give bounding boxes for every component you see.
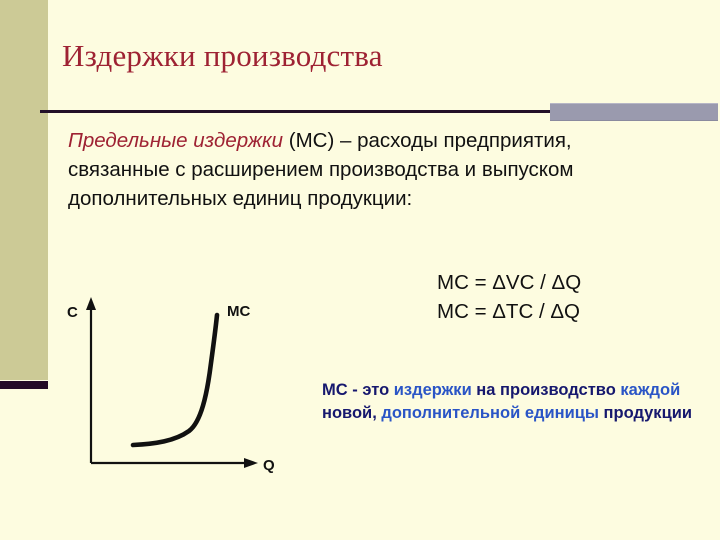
callout-seg-1: издержки	[394, 381, 477, 399]
title-divider-block	[550, 103, 718, 121]
callout-seg-4: новой,	[322, 404, 381, 422]
mc-curve-chart: C Q MC	[55, 285, 305, 485]
decorative-left-band	[0, 0, 48, 380]
slide-title: Издержки производства	[62, 38, 383, 74]
definition-paragraph: Предельные издержки (MC) – расходы предп…	[68, 126, 668, 213]
callout-seg-7: продукции	[604, 404, 692, 422]
decorative-left-band-foot	[0, 381, 48, 389]
formula-block: MC = ΔVC / ΔQ MC = ΔTC / ΔQ	[437, 268, 581, 326]
callout-seg-5: дополнительной	[381, 404, 524, 422]
callout-text: MC - это издержки на производство каждой…	[322, 379, 692, 425]
callout-seg-3: каждой	[620, 381, 680, 399]
chart-canvas: C Q MC	[55, 285, 305, 485]
y-axis-arrowhead	[86, 297, 96, 310]
mc-curve-path	[133, 315, 217, 445]
x-axis-arrowhead	[244, 458, 258, 468]
callout-seg-2: на производство	[476, 381, 620, 399]
callout-seg-6: единицы	[525, 404, 604, 422]
callout-seg-0: MC - это	[322, 381, 394, 399]
formula-mc-tc: MC = ΔTC / ΔQ	[437, 297, 581, 326]
mc-curve-label: MC	[227, 303, 250, 320]
x-axis-label: Q	[263, 457, 275, 474]
y-axis-label: C	[67, 304, 78, 321]
definition-term: Предельные издержки	[68, 129, 283, 152]
formula-mc-vc: MC = ΔVC / ΔQ	[437, 268, 581, 297]
